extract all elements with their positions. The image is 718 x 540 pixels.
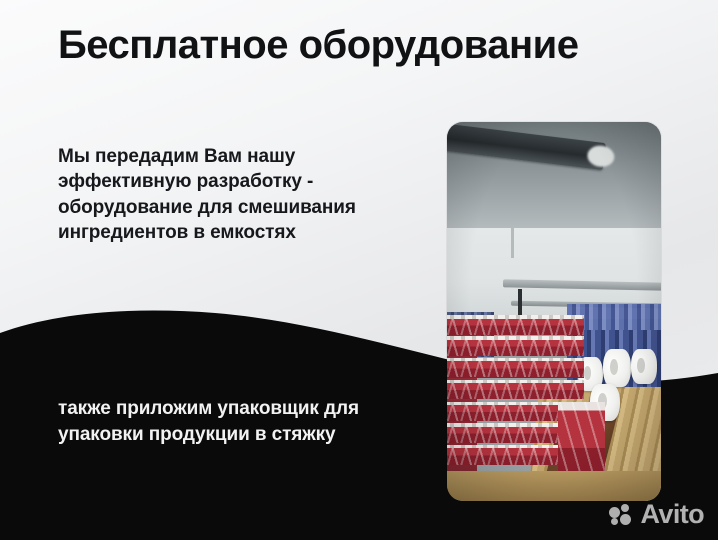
photo-scene [447, 122, 661, 501]
avito-dots-icon [609, 504, 635, 526]
page-title: Бесплатное оборудование [58, 22, 678, 68]
avito-wordmark: Avito [641, 501, 705, 528]
intro-paragraph: Мы передадим Вам нашу эффективную разраб… [58, 144, 418, 245]
photo-vignette [447, 122, 661, 501]
warehouse-photo [447, 122, 661, 501]
secondary-paragraph: также приложим упаковщик для упаковки пр… [58, 396, 398, 448]
avito-watermark: Avito [609, 501, 705, 528]
promo-slide: Бесплатное оборудование Мы передадим Вам… [0, 0, 718, 540]
